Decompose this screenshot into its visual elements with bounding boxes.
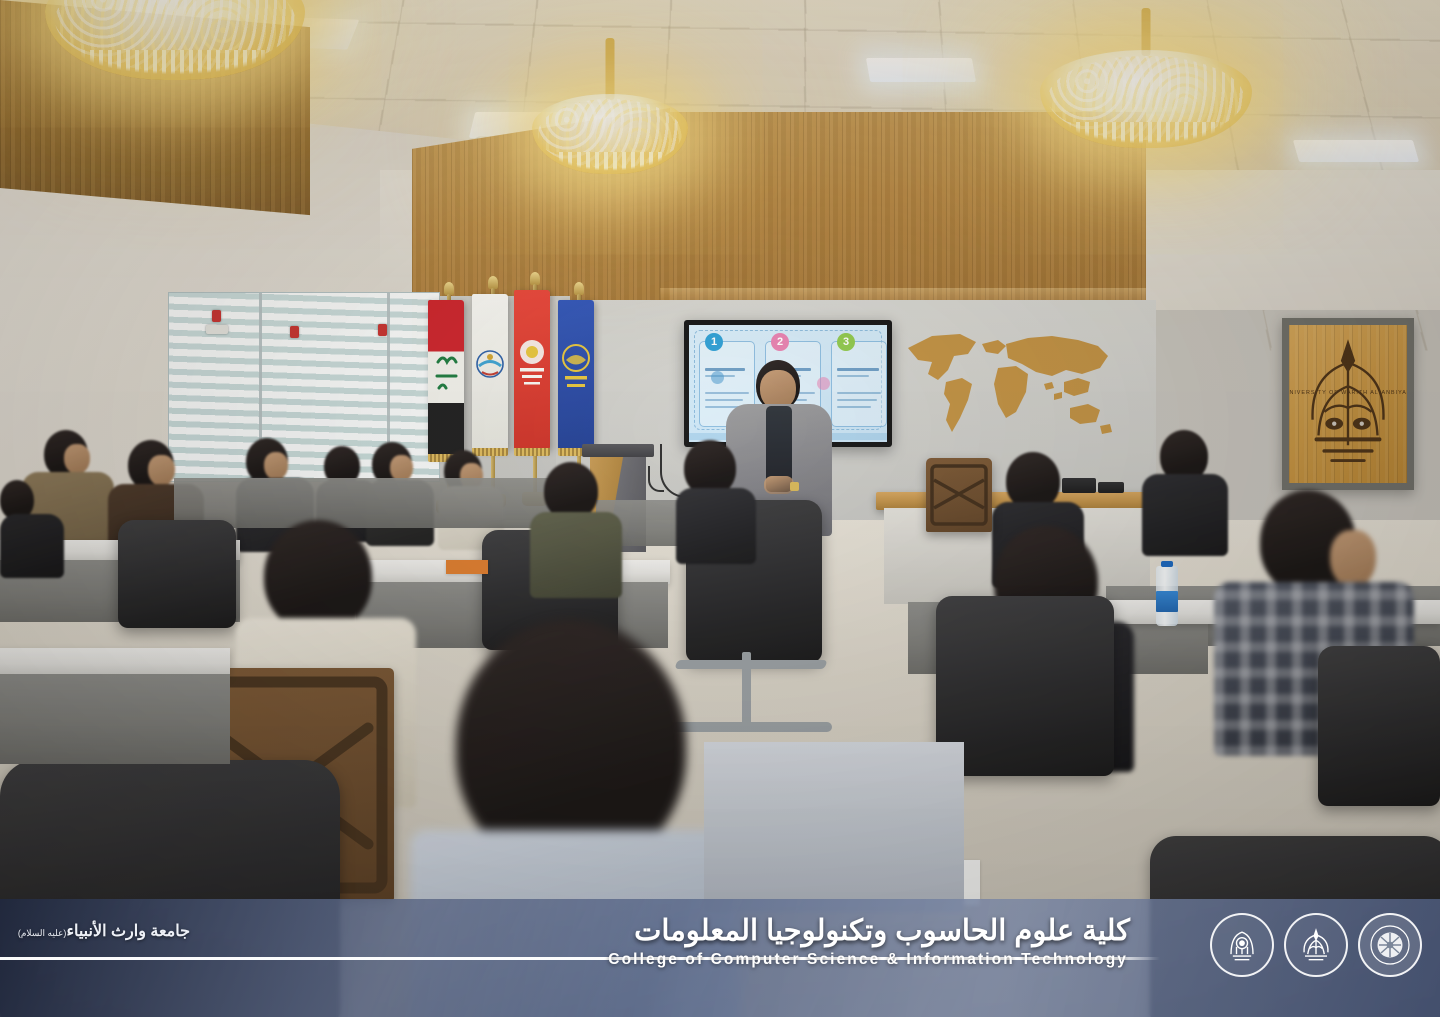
- chandelier-body: [1040, 50, 1252, 148]
- face: [148, 455, 175, 486]
- office-chair: [118, 520, 236, 628]
- ministry-of-higher-education-logo-icon: [1210, 913, 1274, 977]
- chandelier-spikes: [532, 152, 688, 178]
- wooden-chair: [926, 458, 992, 532]
- face: [1330, 530, 1376, 588]
- college-seal-logo-icon: [1358, 913, 1422, 977]
- fire-alarm-icon: [212, 310, 221, 322]
- head: [264, 520, 372, 632]
- slide-step-card-3: 3: [831, 341, 887, 427]
- slide-step-number-2: 2: [771, 333, 789, 351]
- university-emblem-plaque: UNIVERSITY OF WARITH AL-ANBIYAA: [1282, 318, 1414, 490]
- slide-accent-dot: [711, 371, 724, 384]
- audience-member: [530, 462, 622, 588]
- college-name-arabic: كلية علوم الحاسوب وتكنولوجيا المعلومات: [634, 913, 1130, 948]
- face: [264, 452, 288, 480]
- flag-iraq: [428, 300, 464, 456]
- slide-step-title-3: [837, 368, 879, 371]
- ceiling-panel-light: [866, 58, 976, 82]
- slide-step-body-line: [837, 406, 871, 408]
- chandelier-spikes: [45, 50, 305, 84]
- banner-logos: [1210, 913, 1422, 977]
- flag-red-emblem: [514, 290, 550, 450]
- ceiling-panel-light: [1293, 140, 1419, 162]
- chandelier-rod: [1142, 8, 1151, 56]
- chandelier-body: [532, 94, 688, 174]
- chandelier-rod: [606, 38, 615, 100]
- chandelier-spikes: [1040, 122, 1252, 152]
- bottle-label: [1156, 591, 1178, 611]
- presenter-watch: [790, 482, 799, 491]
- student-desk-foreground: [0, 648, 230, 676]
- av-equipment: [1098, 482, 1124, 493]
- chandelier-center: [530, 38, 690, 198]
- fire-alarm-icon: [378, 324, 387, 336]
- podium-top: [582, 444, 654, 457]
- slide-step-number-1: 1: [705, 333, 723, 351]
- face: [64, 444, 90, 474]
- torso: [530, 512, 622, 598]
- chandelier-right: [1038, 8, 1254, 178]
- university-name-arabic: جامعة وارث الأنبياء(عليه السلام): [0, 921, 190, 941]
- display-power-cable: [648, 466, 664, 492]
- fire-alarm-icon: [290, 326, 299, 338]
- audience-member: [0, 480, 64, 576]
- student-desk-foreground-front: [0, 674, 230, 764]
- university-warith-al-anbiyaa-logo-icon: [1284, 913, 1348, 977]
- water-bottle: [1156, 566, 1178, 626]
- slide-step-body-line: [837, 399, 877, 401]
- world-map-wall-art: [902, 322, 1118, 442]
- slide-step-number-3: 3: [837, 333, 855, 351]
- university-name-arabic-text: جامعة وارث الأنبياء: [66, 923, 190, 940]
- wall-sensor-icon: [206, 325, 228, 334]
- flag-white-emblem: [472, 294, 508, 450]
- office-chair: [1318, 646, 1440, 806]
- torso: [0, 514, 64, 578]
- chandelier-body: [45, 0, 305, 80]
- slide-step-body-line: [837, 392, 881, 394]
- torso: [676, 488, 756, 564]
- desk-paper: [446, 560, 488, 574]
- photo-scene: 1 2 3: [0, 0, 1440, 1017]
- audience-member: [676, 440, 756, 558]
- plaque-text: UNIVERSITY OF WARITH AL-ANBIYAA: [1289, 390, 1407, 396]
- desk-panel-foreground-right: [704, 742, 964, 912]
- footer-banner: جامعة وارث الأنبياء(عليه السلام) كلية عل…: [0, 899, 1440, 1017]
- college-name-english: College of Computer Science & Informatio…: [608, 951, 1128, 969]
- university-name-arabic-suffix: (عليه السلام): [18, 928, 67, 938]
- flag-blue-emblem: [558, 300, 594, 450]
- chair-post: [742, 652, 751, 730]
- slide-step-subtitle-3: [837, 375, 869, 377]
- bottle-cap: [1161, 561, 1173, 567]
- chandelier-left: [40, 0, 310, 120]
